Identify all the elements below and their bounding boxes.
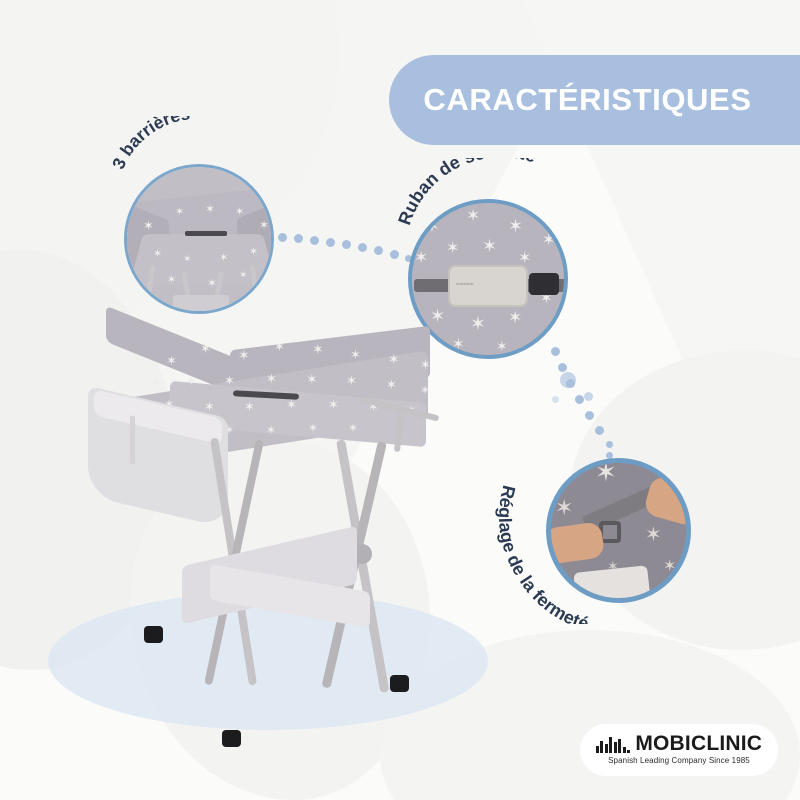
- brand-tagline: Spanish Leading Company Since 1985: [608, 756, 750, 765]
- feature-photo-tightness: ✶ ✶ ✶ ✶ ✶: [551, 463, 686, 598]
- decorative-dot: [552, 396, 559, 403]
- brand-logo: MOBICLINIC Spanish Leading Company Since…: [580, 724, 778, 776]
- product-image: ✶ ✶ ✶ ✶ ✶ ✶ ✶ ✶ ✶ ✶ ✶ ✶ ✶ ✶ ✶ ✶ ✶ ✶ ✶ ✶ …: [60, 330, 460, 760]
- bar-chart-mark-icon: [596, 736, 631, 753]
- infographic-page: CARACTÉRISTIQUES: [0, 0, 800, 800]
- brand-name: MOBICLINIC: [635, 735, 762, 753]
- feature-circle-tightness[interactable]: ✶ ✶ ✶ ✶ ✶: [546, 458, 691, 603]
- product-wheel-left-rear: [144, 626, 163, 643]
- feature-photo-barriers: ✶ ✶ ✶ ✶ ✶ ✶ ✶ ✶ ✶ ✶ ✶ ✶: [127, 167, 271, 311]
- header-banner: CARACTÉRISTIQUES: [389, 55, 800, 145]
- product-wheel-left-front: [222, 730, 241, 747]
- product-wheel-right-rear: [390, 675, 409, 692]
- page-title: CARACTÉRISTIQUES: [423, 82, 751, 118]
- product-bath-tub-divider: [130, 415, 135, 464]
- decorative-dot: [584, 392, 593, 401]
- feature-circle-barriers[interactable]: ✶ ✶ ✶ ✶ ✶ ✶ ✶ ✶ ✶ ✶ ✶ ✶: [124, 164, 274, 314]
